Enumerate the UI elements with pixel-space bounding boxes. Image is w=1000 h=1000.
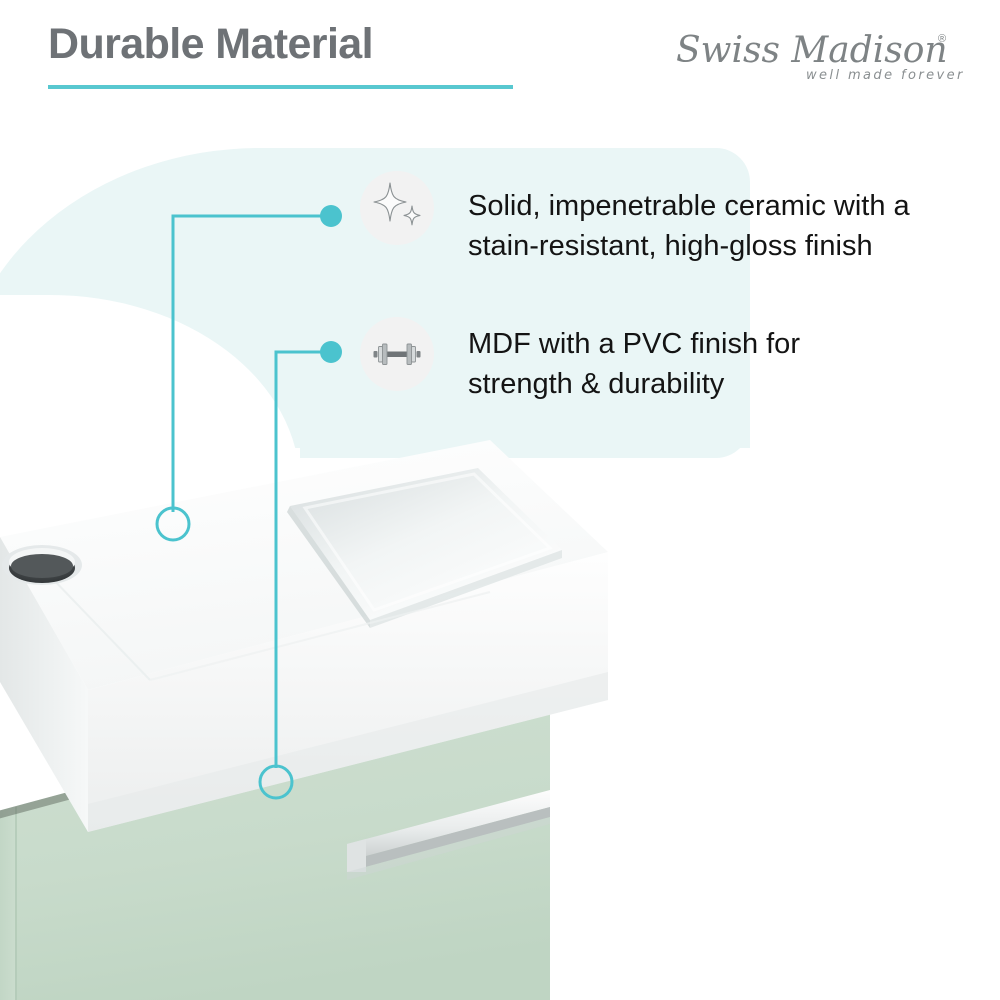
brand-tagline: well made forever <box>806 68 965 83</box>
leader-endpoint-2 <box>260 766 292 798</box>
callout-icon-bubble-1 <box>360 171 434 245</box>
page-title: Durable Material <box>48 20 373 69</box>
leader-line-1 <box>157 205 342 540</box>
sparkle-icon <box>368 179 426 237</box>
leader-dot-1 <box>320 205 342 227</box>
leader-line-2 <box>260 341 342 798</box>
callout-icon-bubble-2 <box>360 317 434 391</box>
leader-dot-2 <box>320 341 342 363</box>
leader-lines <box>0 0 1000 1000</box>
leader-endpoint-1 <box>157 508 189 540</box>
callout-text-1: Solid, impenetrable ceramic with a stain… <box>468 186 978 266</box>
brand-name: Swiss Madison <box>676 30 948 71</box>
dumbbell-icon <box>368 325 426 383</box>
brand-logo: Swiss Madison ® well made forever <box>670 24 970 86</box>
callout-text-2: MDF with a PVC finish for strength & dur… <box>468 324 898 404</box>
title-underline <box>48 85 513 89</box>
infographic-page: Durable Material Swiss Madison ® well ma… <box>0 0 1000 1000</box>
registered-mark: ® <box>938 33 946 45</box>
